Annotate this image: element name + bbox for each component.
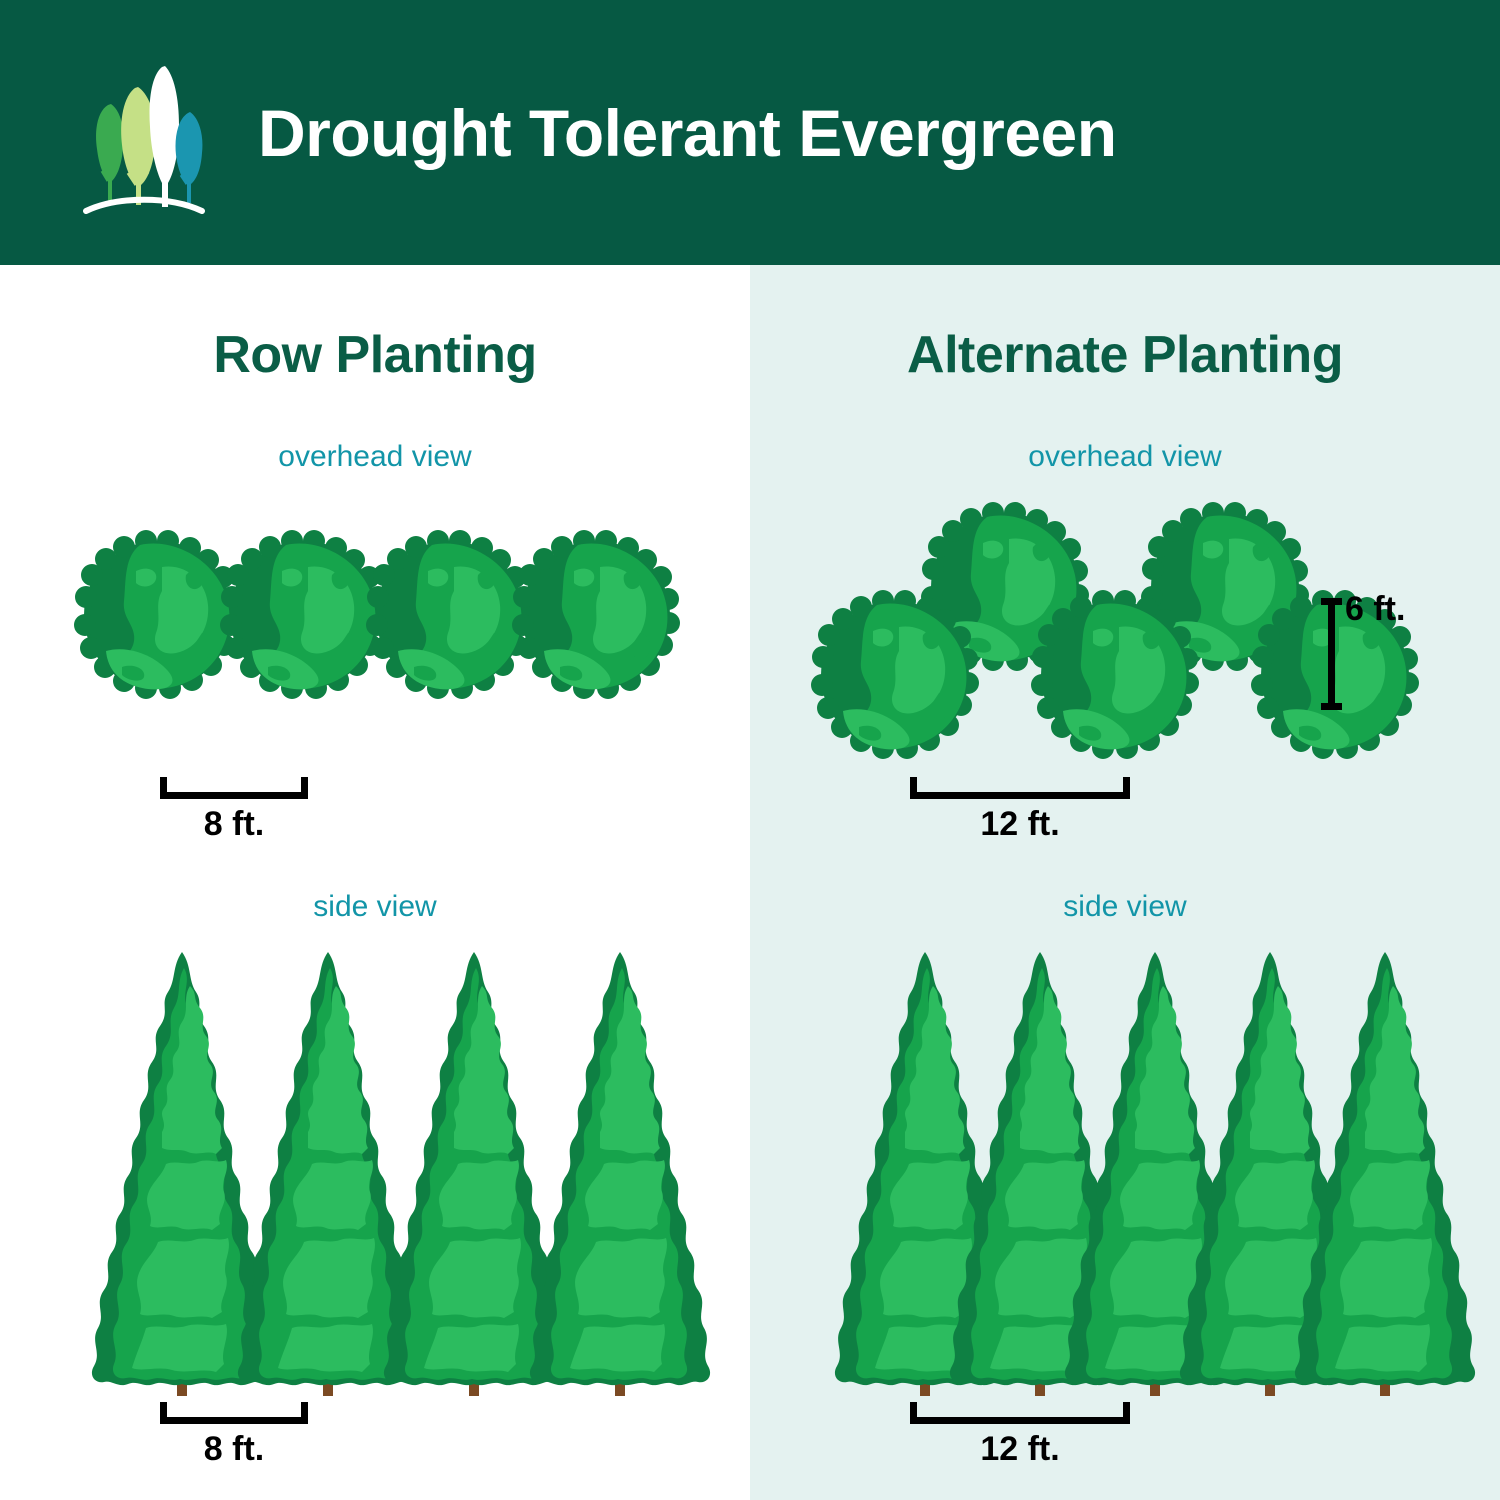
alt-side-art (750, 950, 1500, 1400)
row-side-trees (0, 950, 750, 1400)
alt-overhead-offset-measure: 6 ft. (1328, 598, 1405, 710)
row-side-view-label: side view (0, 890, 750, 924)
panels-container: Row Planting overhead view (0, 265, 1500, 1500)
shrub-top-3 (366, 530, 534, 699)
row-side-art (0, 950, 750, 1400)
row-overhead-view-label: overhead view (0, 440, 750, 474)
alt-shrub-front-1 (811, 590, 979, 759)
panel-alternate-planting: Alternate Planting overhead view (750, 265, 1500, 1500)
alt-shrub-front-2 (1031, 590, 1199, 759)
alt-overhead-view-label: overhead view (750, 440, 1500, 474)
row-overhead-measure-label: 8 ft. (160, 805, 308, 844)
measure-bar-vertical (1328, 598, 1335, 710)
row-side-measure-label: 8 ft. (160, 1430, 308, 1469)
row-side-measure: 8 ft. (160, 1417, 308, 1469)
row-overhead-shrubs (0, 505, 750, 735)
page-title: Drought Tolerant Evergreen (258, 95, 1117, 171)
infographic-page: Drought Tolerant Evergreen Row Planting … (0, 0, 1500, 1500)
alt-overhead-measure-label: 12 ft. (910, 805, 1130, 844)
shrub-top-1 (74, 530, 242, 699)
shrub-top-2 (220, 530, 388, 699)
row-overhead-art (0, 505, 750, 735)
measure-bar (160, 1417, 308, 1424)
page-header: Drought Tolerant Evergreen (0, 0, 1500, 265)
row-planting-title: Row Planting (0, 325, 750, 385)
alt-overhead-measure: 12 ft. (910, 792, 1130, 844)
four-trees-logo (78, 53, 208, 213)
alt-side-measure-label: 12 ft. (910, 1430, 1130, 1469)
alt-offset-measure-label: 6 ft. (1345, 592, 1405, 626)
row-overhead-measure: 8 ft. (160, 792, 308, 844)
evergreen-tree-4 (530, 952, 710, 1396)
alt-side-trees (750, 950, 1500, 1400)
measure-bar (160, 792, 308, 799)
alt-side-view-label: side view (750, 890, 1500, 924)
panel-row-planting: Row Planting overhead view (0, 265, 750, 1500)
alt-side-measure: 12 ft. (910, 1417, 1130, 1469)
measure-bar (910, 1417, 1130, 1424)
measure-bar (910, 792, 1130, 799)
shrub-top-4 (512, 530, 680, 699)
alternate-planting-title: Alternate Planting (750, 325, 1500, 385)
